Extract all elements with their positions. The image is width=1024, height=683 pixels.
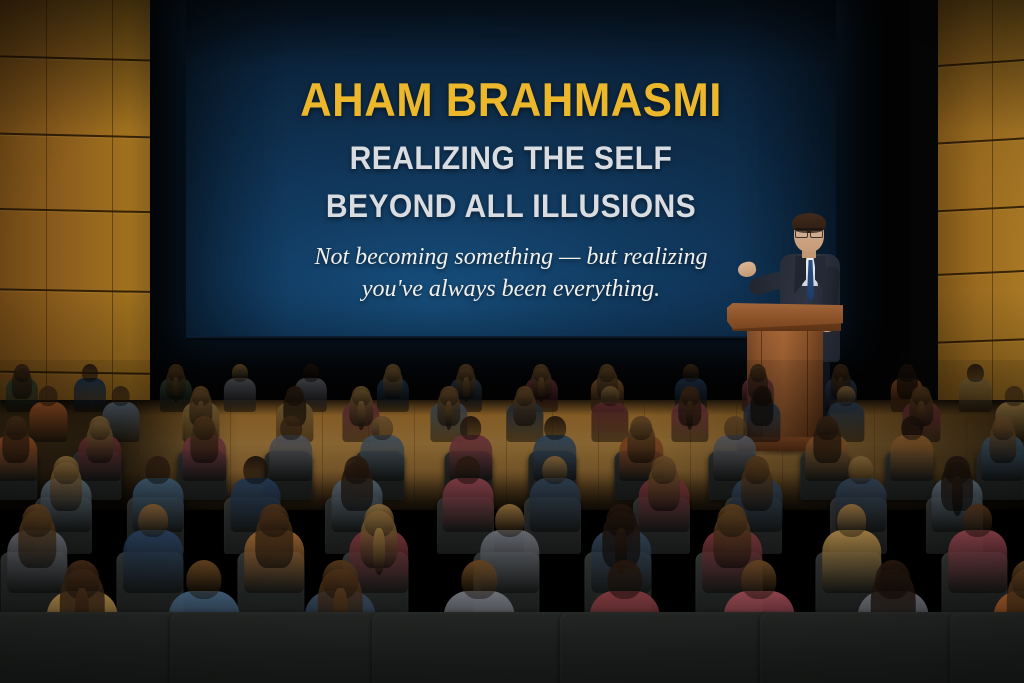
audience-member-head (515, 386, 534, 406)
audience-member-head (967, 364, 983, 382)
auditorium-seat-front-row (372, 612, 577, 683)
audience-member-head (899, 364, 915, 382)
audience-member-torso (591, 402, 628, 442)
audience-member-head (744, 456, 769, 484)
audience-member-head (683, 364, 699, 382)
audience-member-torso (124, 530, 184, 593)
slide-content: AHAM BRAHMASMI REALIZING THE SELF BEYOND… (186, 0, 836, 338)
audience-member-head (837, 504, 867, 537)
audience-member-head (243, 456, 268, 484)
audience-member-head (724, 416, 746, 440)
audience-member-head (259, 504, 289, 537)
audience-member-head (495, 504, 525, 537)
audience-member-head (232, 364, 248, 382)
audience-member-torso (74, 378, 106, 412)
audience-member-head (717, 504, 747, 537)
audience-member-head (22, 504, 52, 537)
audience-member-head (145, 456, 170, 484)
audience-member-head (186, 560, 221, 599)
audience-member-head (753, 386, 772, 406)
slide-subtitle-line-1: REALIZING THE SELF (206, 140, 817, 177)
audience-member-head (303, 364, 319, 382)
audience-member-head (139, 504, 169, 537)
audience-member-head (371, 416, 393, 440)
audience-member-head (285, 386, 304, 406)
audience-member-head (607, 560, 642, 599)
slide-subtitle-line-2: BEYOND ALL ILLUSIONS (206, 188, 817, 225)
audience-member-torso (530, 478, 581, 532)
auditorium-seat-front-row (170, 612, 385, 683)
audience-member-head (1005, 386, 1024, 406)
audience-member-head (631, 416, 653, 440)
audience-member-head (280, 416, 302, 440)
audience-member-ponytail (373, 528, 385, 575)
audience-member-head (82, 364, 98, 382)
audience-member-head (750, 364, 766, 382)
auditorium-seat-front-row (560, 612, 775, 683)
audience-member-head (5, 416, 27, 440)
audience-member-head (462, 560, 497, 599)
slide-title: AHAM BRAHMASMI (209, 72, 814, 127)
audience-member-head (460, 416, 482, 440)
audience-member-head (601, 386, 620, 406)
audience-member-head (542, 456, 567, 484)
audience-member-torso (269, 435, 312, 481)
auditorium-seat-front-row (0, 612, 180, 683)
audience-member-torso (959, 378, 991, 412)
audience-member-head (992, 416, 1014, 440)
audience (0, 360, 1024, 683)
audience-member-head (817, 416, 839, 440)
audience-member-torso (224, 378, 256, 412)
auditorium-seat-front-row (950, 612, 1024, 683)
audience-member-torso (30, 402, 67, 442)
audience-member-head (39, 386, 58, 406)
audience-member-head (193, 416, 215, 440)
audience-member-head (651, 456, 676, 484)
glasses-icon (795, 228, 823, 234)
audience-member-torso (443, 478, 494, 532)
projection-screen[interactable]: AHAM BRAHMASMI REALIZING THE SELF BEYOND… (186, 0, 836, 338)
audience-member-head (344, 456, 369, 484)
scene-root: AHAM BRAHMASMI REALIZING THE SELF BEYOND… (0, 0, 1024, 683)
audience-member-head (455, 456, 480, 484)
audience-member-head (544, 416, 566, 440)
audience-member-head (54, 456, 79, 484)
slide-quote-line-2: you've always been everything. (186, 272, 836, 306)
audience-member-head (111, 386, 130, 406)
audience-member-torso (948, 530, 1008, 593)
audience-member-head (599, 364, 615, 382)
audience-member-head (89, 416, 111, 440)
audience-member-head (837, 386, 856, 406)
audience-member-head (848, 456, 873, 484)
auditorium-seat-front-row (760, 612, 965, 683)
audience-member-torso (890, 435, 933, 481)
audience-member-head (14, 364, 30, 382)
audience-member-head (385, 364, 401, 382)
audience-member-head (741, 560, 776, 599)
audience-member-head (963, 504, 993, 537)
audience-member-head (901, 416, 923, 440)
audience-member-head (875, 560, 910, 599)
